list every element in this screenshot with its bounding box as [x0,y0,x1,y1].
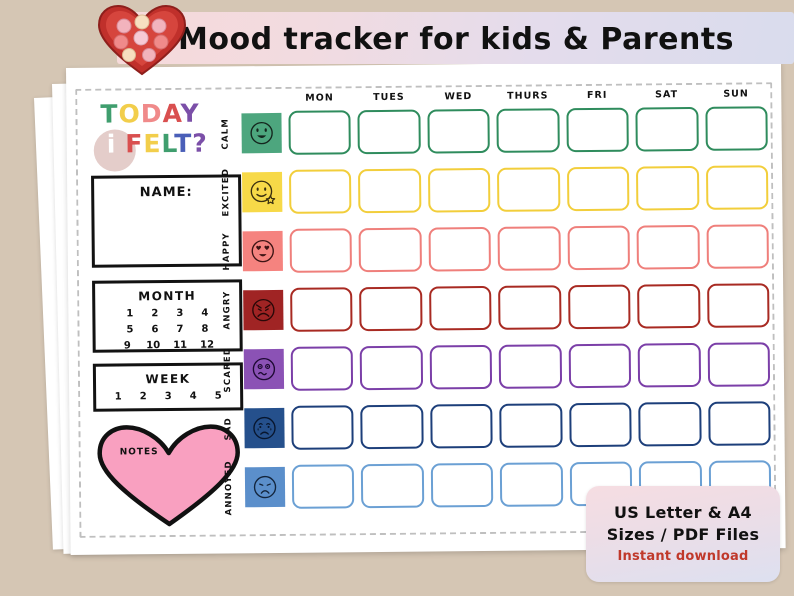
mood-label-scared: SCARED [219,343,237,395]
crying-face-icon [244,408,284,448]
table-cell[interactable] [500,403,563,448]
month-number-10[interactable]: 10 [146,340,160,351]
table-cell[interactable] [568,344,631,389]
table-cell[interactable] [706,165,769,210]
mood-label-calm: CALM [216,107,234,159]
title-line-today: TODAY [100,99,199,129]
table-cell[interactable] [358,110,421,155]
table-cell[interactable] [290,287,353,332]
mood-row-sad: SAD [219,397,770,454]
table-cell[interactable] [567,226,630,271]
table-cell[interactable] [636,107,699,152]
page-title: Mood tracker for kids & Parents [178,17,790,61]
title-letter-o: O [118,99,141,128]
month-number-5[interactable]: 5 [124,324,136,335]
table-cell[interactable] [705,106,768,151]
table-cell[interactable] [291,405,354,450]
table-cell[interactable] [360,346,423,391]
title-letter-i: i [107,130,117,159]
table-cell[interactable] [500,462,563,507]
table-cell[interactable] [499,344,562,389]
table-cell[interactable] [361,464,424,509]
title-letter-l: L [161,129,174,158]
table-cell[interactable] [568,285,631,330]
table-cell[interactable] [290,228,353,273]
frowning-face-icon [245,467,285,507]
table-cell[interactable] [498,226,561,271]
table-cell[interactable] [359,228,422,273]
table-cell[interactable] [428,168,491,213]
title-line-i-felt: iFELT? [107,129,208,159]
day-header-mon: MON [288,92,351,104]
mood-row-calm: CALM [216,102,767,159]
week-number-4[interactable]: 4 [187,391,199,402]
mood-label-angry: ANGRY [218,284,236,336]
table-cell[interactable] [430,345,493,390]
table-cell[interactable] [358,169,421,214]
month-number-9[interactable]: 9 [121,340,133,351]
heart-eyes-face-icon [243,231,283,271]
table-cell[interactable] [497,108,560,153]
mood-label-annoyed: ANNOYED [220,461,238,513]
title-letter-t2: T [174,129,192,158]
day-header-sun: SUN [705,88,768,100]
week-number-1[interactable]: 1 [112,391,124,402]
title-letter-f: F [125,129,143,158]
table-cell[interactable] [498,285,561,330]
title-letter-t1: T [100,99,118,128]
day-header-thurs: THURS [497,90,560,102]
smiling-face-icon [241,113,281,153]
star-struck-face-icon [242,172,282,212]
day-header-tues: TUES [358,92,421,104]
mood-row-happy: HAPPY [218,220,769,277]
table-cell[interactable] [361,405,424,450]
table-cell[interactable] [291,346,354,391]
month-number-7[interactable]: 7 [174,324,186,335]
title-letter-d: D [141,99,163,128]
mood-row-angry: ANGRY [218,279,769,336]
title-letter-a: A [162,99,180,128]
table-cell[interactable] [636,166,699,211]
title-letter-e: E [143,129,161,158]
info-badge: US Letter & A4 Sizes / PDF Files Instant… [586,486,780,582]
table-cell[interactable] [708,401,771,446]
table-cell[interactable] [637,225,700,270]
day-header-sat: SAT [635,89,698,101]
notes-label: NOTES [120,447,159,457]
table-cell[interactable] [427,109,490,154]
month-number-12[interactable]: 12 [200,340,214,351]
table-cell[interactable] [292,464,355,509]
month-number-3[interactable]: 3 [174,308,186,319]
mood-tracker-worksheet: TODAY iFELT? NAME: MONTH 1 2 3 4 5 6 7 8 [66,61,786,555]
table-cell[interactable] [707,342,770,387]
table-cell[interactable] [429,286,492,331]
month-number-8[interactable]: 8 [199,324,211,335]
month-number-11[interactable]: 11 [173,340,187,351]
table-cell[interactable] [289,169,352,214]
table-cell[interactable] [428,227,491,272]
month-number-2[interactable]: 2 [149,308,161,319]
table-cell[interactable] [637,284,700,329]
table-cell[interactable] [638,402,701,447]
table-cell[interactable] [707,283,770,328]
table-cell[interactable] [497,167,560,212]
day-header-wed: WED [427,91,490,103]
week-number-2[interactable]: 2 [137,391,149,402]
table-cell[interactable] [569,403,632,448]
fearful-face-icon [244,349,284,389]
angry-face-icon [243,290,283,330]
table-cell[interactable] [288,110,351,155]
mood-label-happy: HAPPY [218,225,236,277]
chocolate-box-heart-icon [96,4,188,76]
table-cell[interactable] [360,287,423,332]
month-number-4[interactable]: 4 [199,308,211,319]
table-cell[interactable] [638,343,701,388]
month-number-6[interactable]: 6 [149,324,161,335]
mood-label-excited: EXCITED [217,166,235,218]
week-number-3[interactable]: 3 [162,391,174,402]
mood-grid: MON TUES WED THURS FRI SAT SUN CALM EXCI… [216,85,771,520]
mood-label-sad: SAD [219,402,237,454]
month-number-1[interactable]: 1 [124,308,136,319]
title-letter-question: ? [192,129,208,158]
badge-line-download: Instant download [618,548,749,566]
table-cell[interactable] [567,167,630,212]
title-letter-y: Y [180,99,199,128]
badge-line-files: Sizes / PDF Files [607,524,760,546]
mood-row-excited: EXCITED [217,161,768,218]
table-cell[interactable] [566,108,629,153]
mood-row-scared: SCARED [219,338,770,395]
table-cell[interactable] [706,224,769,269]
table-cell[interactable] [430,404,493,449]
badge-line-sizes: US Letter & A4 [614,502,752,524]
day-header-fri: FRI [566,90,629,102]
table-cell[interactable] [431,463,494,508]
